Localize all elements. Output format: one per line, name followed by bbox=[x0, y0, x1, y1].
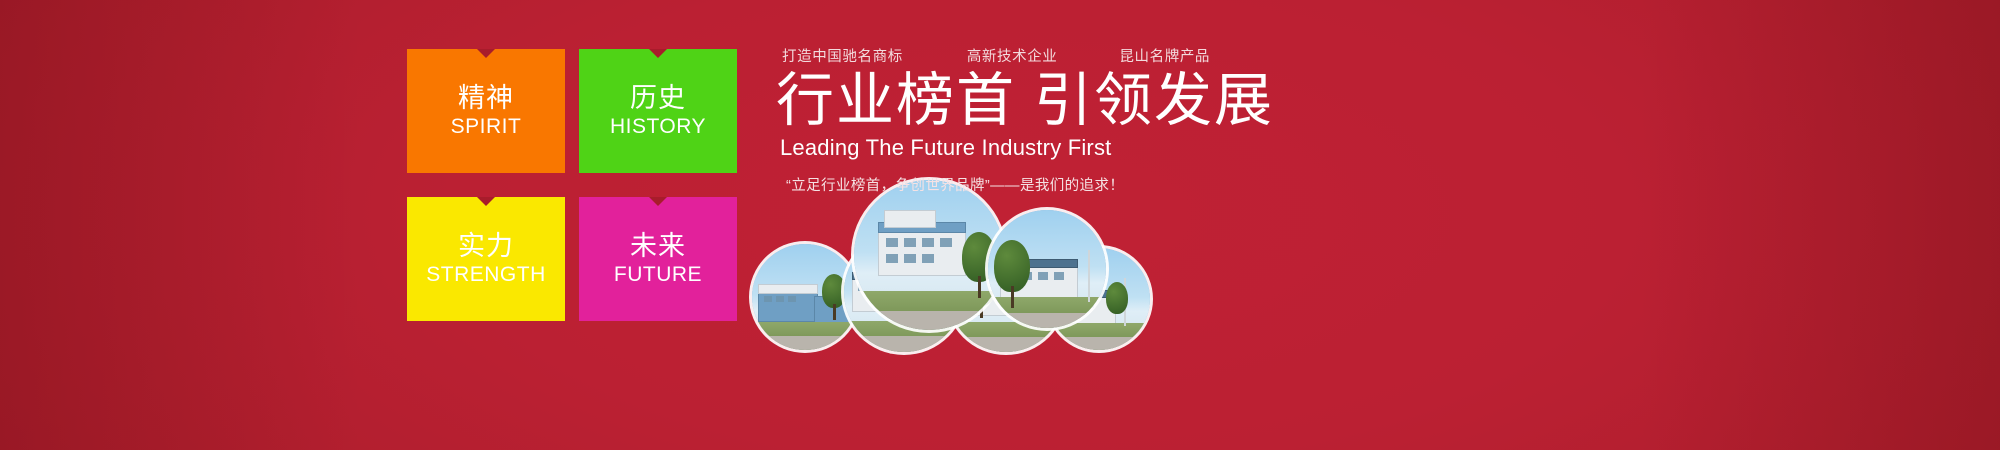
tile-spirit[interactable]: 精神 SPIRIT bbox=[407, 49, 565, 173]
photo-collage bbox=[752, 180, 1172, 350]
headline-right: 引领发展 bbox=[1034, 68, 1274, 133]
subline: Leading The Future Industry First bbox=[780, 135, 1274, 161]
collage-photo-6 bbox=[988, 210, 1106, 328]
tile-history-cn: 历史 bbox=[630, 84, 686, 113]
notch-icon bbox=[477, 197, 495, 206]
tagline-2: 高新技术企业 bbox=[967, 50, 1058, 65]
tile-future-en: FUTURE bbox=[614, 263, 702, 286]
tile-history-en: HISTORY bbox=[610, 115, 706, 138]
tagline-3: 昆山名牌产品 bbox=[1119, 50, 1210, 65]
tile-future-cn: 未来 bbox=[630, 232, 686, 261]
notch-icon bbox=[649, 197, 667, 206]
tile-spirit-en: SPIRIT bbox=[451, 115, 522, 138]
copy-block: 打造中国驰名商标 高新技术企业 昆山名牌产品 行业榜首引领发展 Leading … bbox=[778, 50, 1274, 195]
notch-icon bbox=[477, 49, 495, 58]
promo-banner: 精神 SPIRIT 历史 HISTORY 实力 STRENGTH 未来 FUTU… bbox=[0, 0, 2000, 450]
tile-spirit-cn: 精神 bbox=[458, 84, 514, 113]
tile-grid: 精神 SPIRIT 历史 HISTORY 实力 STRENGTH 未来 FUTU… bbox=[407, 49, 737, 321]
headline: 行业榜首引领发展 bbox=[776, 71, 1274, 132]
notch-icon bbox=[649, 49, 667, 58]
tile-future[interactable]: 未来 FUTURE bbox=[579, 197, 737, 321]
tile-strength-en: STRENGTH bbox=[426, 263, 546, 286]
headline-left: 行业榜首 bbox=[776, 68, 1016, 133]
quote-line: “立足行业榜首，争创世界品牌”——是我们的追求！ bbox=[786, 178, 1274, 195]
tile-strength-cn: 实力 bbox=[458, 232, 514, 261]
tile-strength[interactable]: 实力 STRENGTH bbox=[407, 197, 565, 321]
collage-photo-1 bbox=[752, 244, 858, 350]
collage-photo-5 bbox=[854, 180, 1004, 330]
tagline-row: 打造中国驰名商标 高新技术企业 昆山名牌产品 bbox=[782, 50, 1274, 65]
tile-history[interactable]: 历史 HISTORY bbox=[579, 49, 737, 173]
tagline-1: 打造中国驰名商标 bbox=[782, 50, 903, 65]
